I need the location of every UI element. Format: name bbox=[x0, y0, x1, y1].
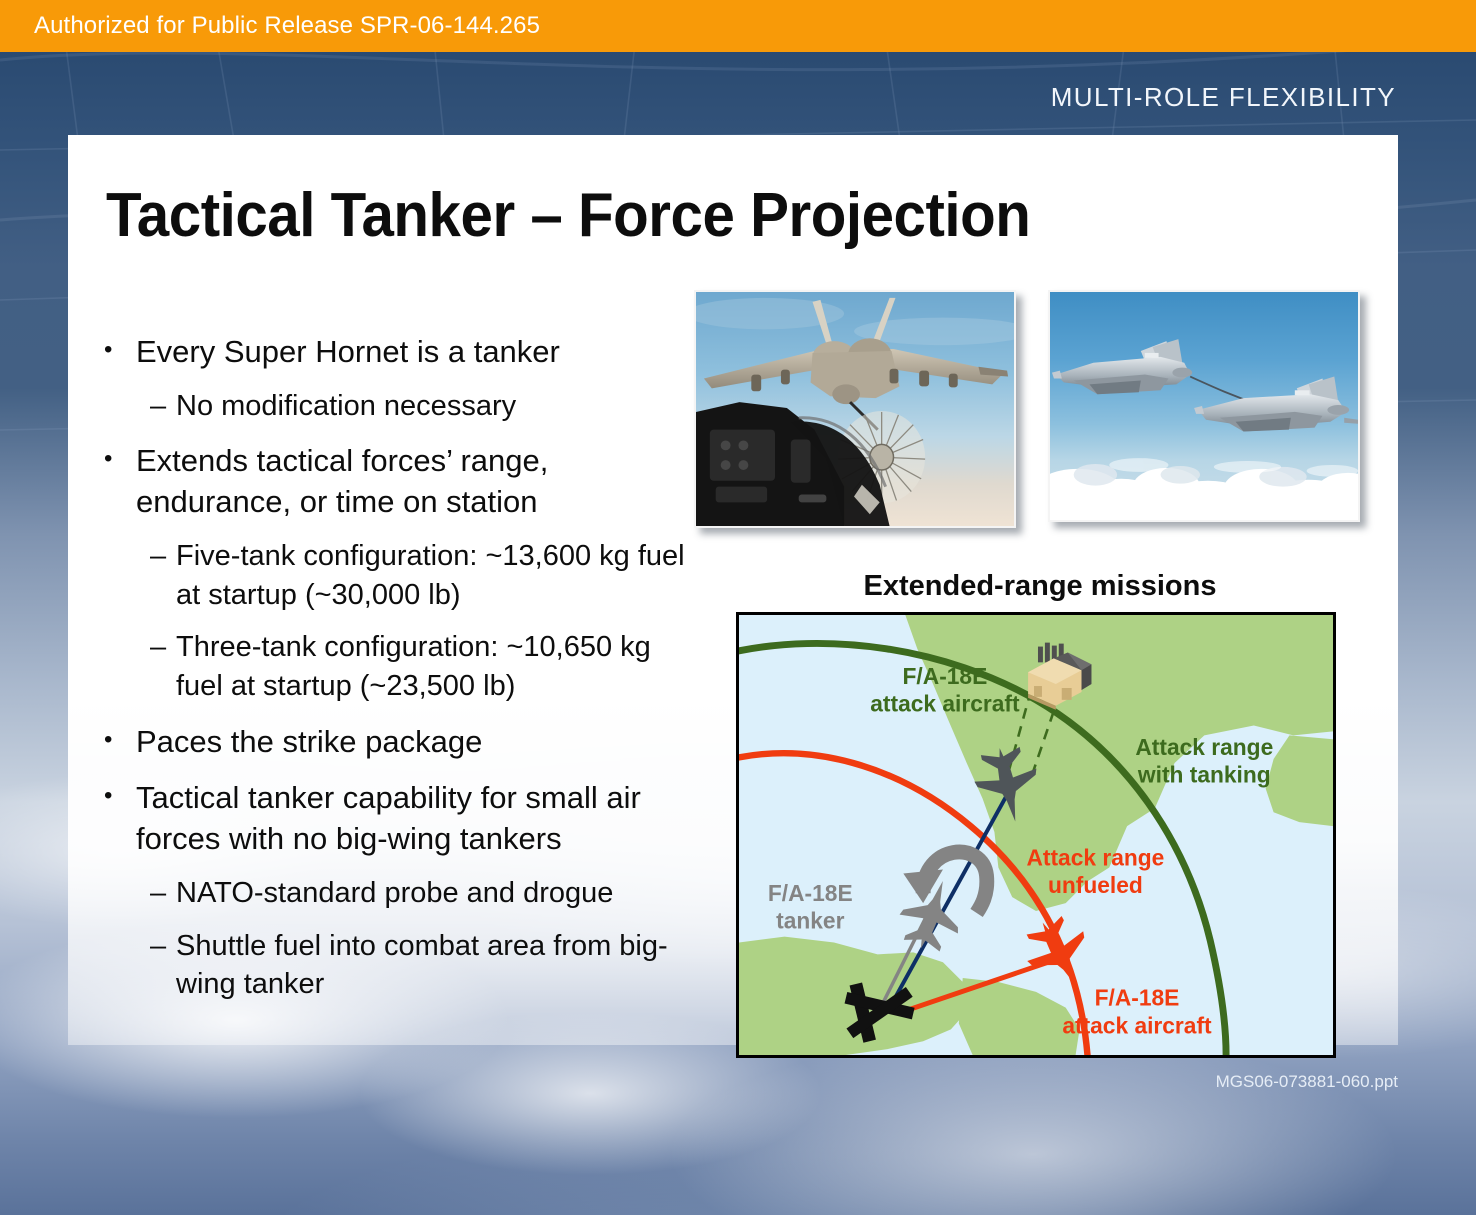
bullet-marker: • bbox=[104, 441, 136, 523]
bullet-text: Paces the strike package bbox=[136, 722, 704, 763]
bullet-item: – NATO-standard probe and drogue bbox=[150, 874, 704, 913]
footer-document-code: MGS06-073881-060.ppt bbox=[1216, 1072, 1398, 1092]
photo-aerial-refueling-cockpit-view bbox=[694, 290, 1016, 528]
attack-aircraft-tanked-label-line1: F/A-18E bbox=[903, 663, 988, 689]
attack-aircraft-tanked-label-line2: attack aircraft bbox=[870, 691, 1020, 717]
bullet-item: – Three-tank configuration: ~10,650 kg f… bbox=[150, 628, 704, 705]
public-release-text: Authorized for Public Release SPR-06-144… bbox=[34, 12, 540, 40]
bullet-marker: – bbox=[150, 628, 176, 705]
bullet-item: • Paces the strike package bbox=[104, 722, 704, 763]
bullet-text: Shuttle fuel into combat area from big-w… bbox=[176, 927, 704, 1004]
public-release-banner: Authorized for Public Release SPR-06-144… bbox=[0, 0, 1476, 52]
attack-range-tanking-label-line1: Attack range bbox=[1135, 734, 1273, 760]
bullet-marker: – bbox=[150, 927, 176, 1004]
bullet-marker: • bbox=[104, 778, 136, 860]
bullet-marker: – bbox=[150, 537, 176, 614]
bullet-marker: • bbox=[104, 332, 136, 373]
page-title: Tactical Tanker – Force Projection bbox=[106, 180, 1030, 251]
bullet-marker: – bbox=[150, 387, 176, 426]
bullet-item: – Shuttle fuel into combat area from big… bbox=[150, 927, 704, 1004]
bullet-text: Five-tank configuration: ~13,600 kg fuel… bbox=[176, 537, 704, 614]
bullet-marker: – bbox=[150, 874, 176, 913]
bullet-text: No modification necessary bbox=[176, 387, 704, 426]
bullet-list: • Every Super Hornet is a tanker – No mo… bbox=[104, 332, 704, 1004]
attack-range-tanking-label-line2: with tanking bbox=[1137, 762, 1271, 788]
extended-range-missions-diagram: F/A-18E attack aircraft Attack range wit… bbox=[736, 612, 1336, 1058]
tanker-label-line2: tanker bbox=[776, 908, 844, 934]
attack-aircraft-unfueled-label-line1: F/A-18E bbox=[1095, 985, 1180, 1011]
diagram-title: Extended-range missions bbox=[735, 570, 1345, 603]
attack-aircraft-unfueled-label-line2: attack aircraft bbox=[1062, 1012, 1212, 1038]
bullet-item: – Five-tank configuration: ~13,600 kg fu… bbox=[150, 537, 704, 614]
attack-range-unfueled-label-line2: unfueled bbox=[1048, 872, 1143, 898]
bullet-marker: • bbox=[104, 722, 136, 763]
photo-two-super-hornets-buddy-refueling bbox=[1048, 290, 1360, 522]
bullet-text: NATO-standard probe and drogue bbox=[176, 874, 704, 913]
bullet-item: • Tactical tanker capability for small a… bbox=[104, 778, 704, 860]
bullet-text: Three-tank configuration: ~10,650 kg fue… bbox=[176, 628, 704, 705]
bullet-item: – No modification necessary bbox=[150, 387, 704, 426]
bullet-item: • Extends tactical forces’ range, endura… bbox=[104, 441, 704, 523]
tanker-label-line1: F/A-18E bbox=[768, 880, 853, 906]
bullet-text: Tactical tanker capability for small air… bbox=[136, 778, 704, 860]
section-label: MULTI-ROLE FLEXIBILITY bbox=[1051, 82, 1396, 113]
bullet-text: Every Super Hornet is a tanker bbox=[136, 332, 704, 373]
bullet-item: • Every Super Hornet is a tanker bbox=[104, 332, 704, 373]
attack-range-unfueled-label-line1: Attack range bbox=[1026, 845, 1164, 871]
slide-canvas: Authorized for Public Release SPR-06-144… bbox=[0, 0, 1476, 1215]
bullet-text: Extends tactical forces’ range, enduranc… bbox=[136, 441, 704, 523]
